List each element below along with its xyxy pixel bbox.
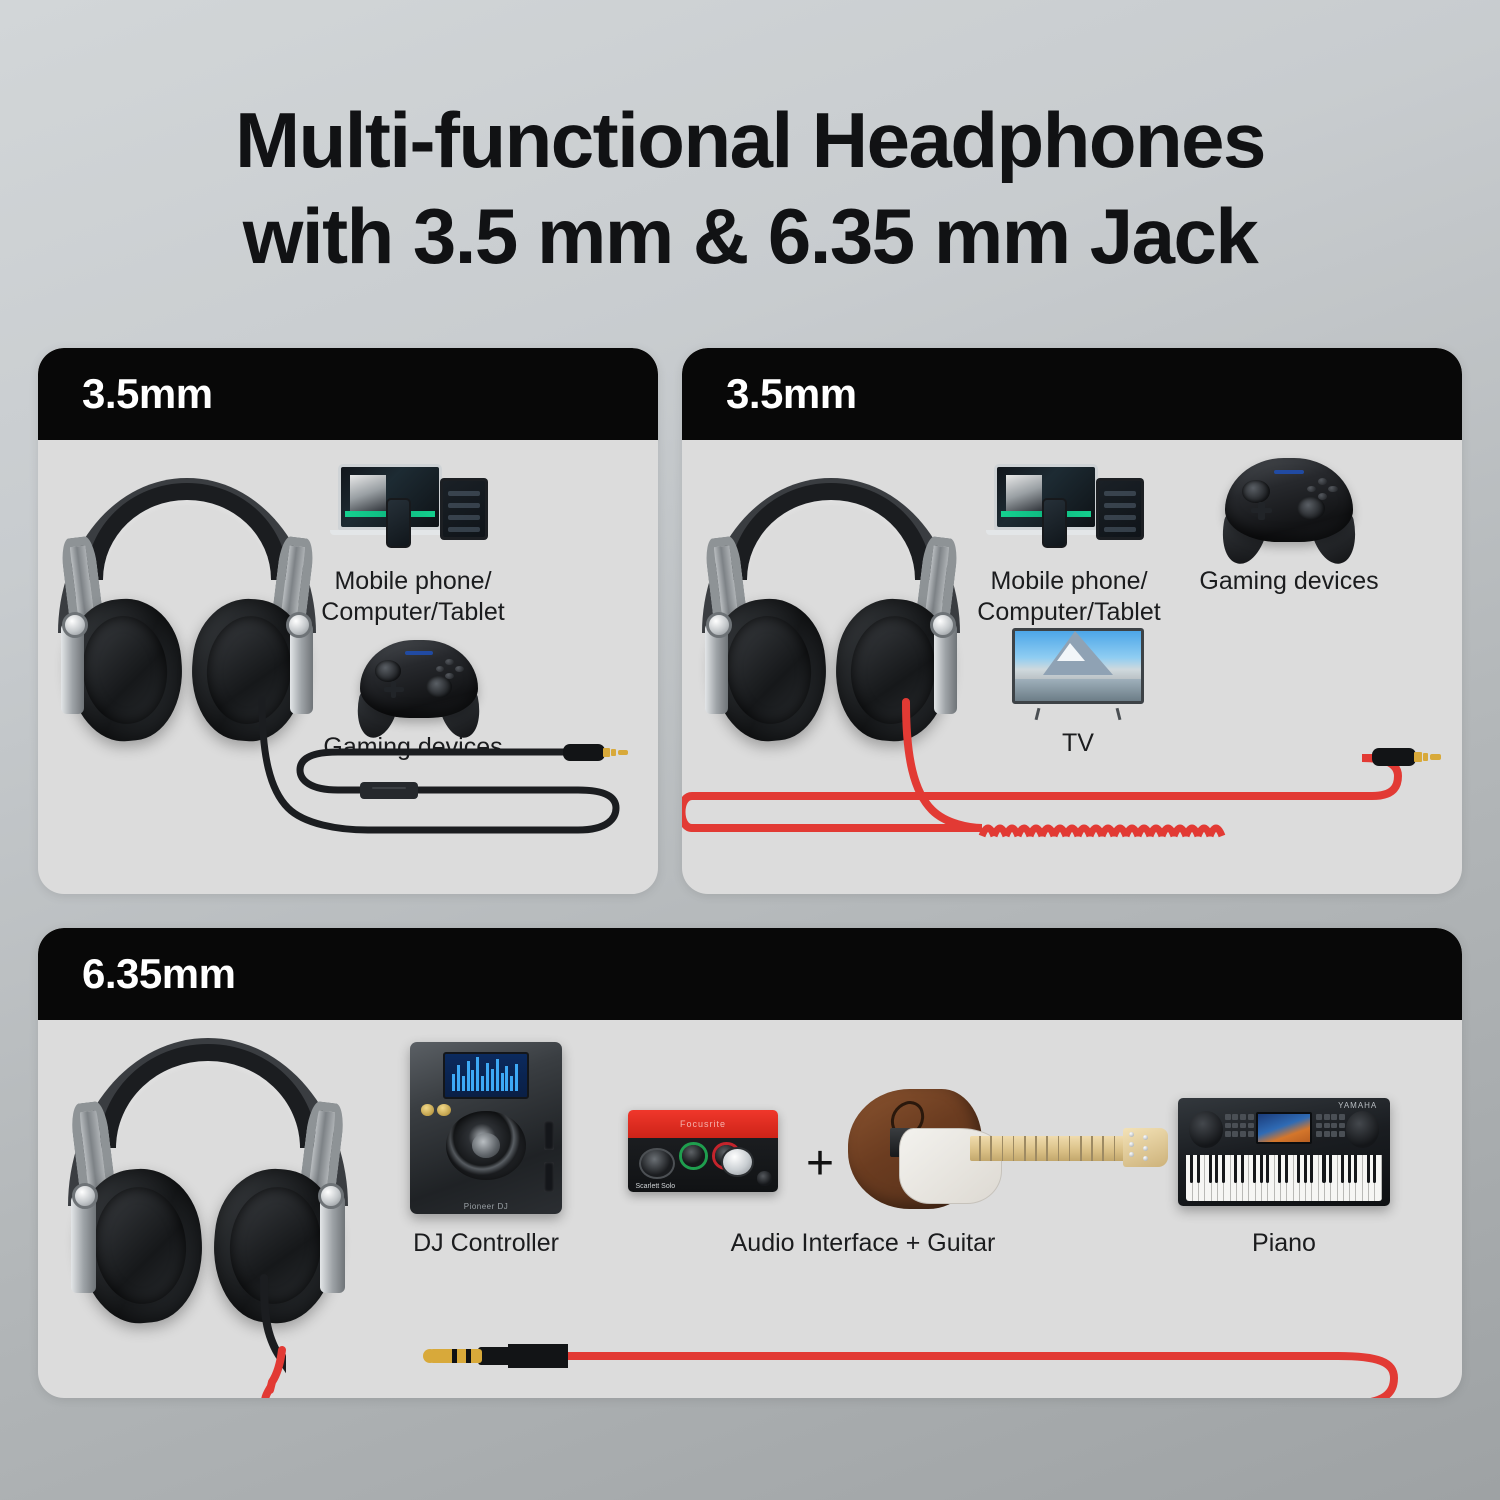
jack-35mm-gold-tip [1430,754,1441,760]
panel-tag-label: 6.35mm [38,950,235,998]
panel-tag-label: 3.5mm [38,370,213,418]
jack-35mm-gold-tip [618,750,628,755]
panel-body-35mm-right: Mobile phone/ Computer/Tablet Gaming dev… [682,440,1462,894]
phone-screen [1044,500,1065,546]
cable-635mm-red-coiled [38,1020,1462,1398]
phone-icon [386,498,411,548]
jack-35mm-housing [563,744,605,761]
panel-header-635mm: 6.35mm [38,928,1462,1020]
phone-icon [1042,498,1067,548]
jack-635mm-housing [508,1344,568,1368]
panel-body-35mm-left: Mobile phone/ Computer/Tablet Gaming dev… [38,440,658,894]
jack-635mm-gold-tip [423,1349,437,1363]
panel-635mm: 6.35mm [38,928,1462,1398]
cable-35mm-red-coiled [682,440,1462,894]
panel-header-35mm-left: 3.5mm [38,348,658,440]
phone-screen [388,500,409,546]
page-title-line-2: with 3.5 mm & 6.35 mm Jack [0,188,1500,284]
inline-mic-remote [360,782,418,799]
cable-coil-section [982,828,1222,836]
panel-body-635mm: Pioneer DJ DJ Controller Focusrite Scarl… [38,1020,1462,1398]
page-title-line-1: Multi-functional Headphones [0,92,1500,188]
cable-35mm-black [38,440,658,894]
panel-35mm-left: 3.5mm [38,348,658,894]
page-title: Multi-functional Headphones with 3.5 mm … [0,92,1500,284]
panel-35mm-right: 3.5mm [682,348,1462,894]
panel-header-35mm-right: 3.5mm [682,348,1462,440]
panel-tag-label: 3.5mm [682,370,857,418]
jack-35mm-housing [1372,748,1416,766]
